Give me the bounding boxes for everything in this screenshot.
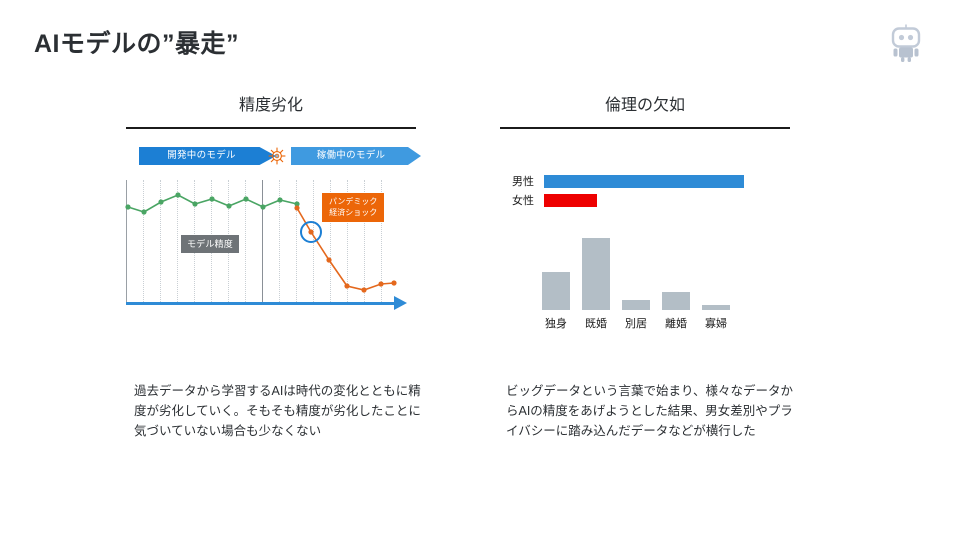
section-accuracy-degradation: 精度劣化 (126, 96, 416, 129)
vbar-married (582, 238, 610, 310)
page-title: AIモデルの”暴走” (34, 24, 239, 60)
chevron-ops-model: 稼働中のモデル (291, 147, 421, 165)
vbar-group-separated: 別居 (622, 300, 650, 310)
vertical-bar-chart: 独身 既婚 別居 離婚 寡婦 (534, 222, 754, 332)
annotation-shock-line1: パンデミック (329, 196, 377, 207)
chevron-dev-model: 開発中のモデル (139, 147, 276, 165)
annotation-shock-line2: 経済ショック (329, 207, 377, 218)
bar-charts: 男性 女性 独身 既婚 別居 離婚 (490, 160, 790, 332)
section-rule-left (126, 127, 416, 129)
series-degraded-line (311, 232, 394, 290)
hbar-row-male: 男性 (490, 174, 744, 188)
highlight-circle (300, 221, 322, 243)
model-phase-banner: 開発中のモデル (126, 145, 416, 167)
vbar-group-married: 既婚 (582, 238, 610, 310)
x-axis (126, 302, 398, 305)
hbar-label-male: 男性 (490, 173, 544, 189)
annotation-shock: パンデミック 経済ショック (322, 193, 384, 222)
vbar-widowed (702, 305, 730, 310)
series-label-model-accuracy: モデル精度 (181, 235, 239, 253)
hbar-row-female: 女性 (490, 193, 597, 207)
section-rule-right (500, 127, 790, 129)
vbar-label-married: 既婚 (585, 315, 607, 331)
body-text-right: ビッグデータという言葉で始まり、様々なデータからAIの精度をあげようとした結果、… (506, 381, 794, 441)
hbar-female (544, 194, 597, 207)
gear-icon (266, 146, 288, 166)
vbar-group-single: 独身 (542, 272, 570, 310)
hbar-label-female: 女性 (490, 192, 544, 208)
body-text-left: 過去データから学習するAIは時代の変化とともに精度が劣化していく。そもそも精度が… (134, 381, 422, 441)
vbar-separated (622, 300, 650, 310)
vbar-single (542, 272, 570, 310)
vbar-group-widowed: 寡婦 (702, 305, 730, 310)
x-axis-arrow-icon (394, 296, 407, 310)
hbar-male (544, 175, 744, 188)
slide-root: AIモデルの”暴走” 精度劣化 倫理の欠如 開発中のモデル (0, 0, 960, 540)
vbar-group-divorced: 離婚 (662, 292, 690, 310)
line-chart: 開発中のモデル (126, 145, 416, 320)
vbar-label-single: 独身 (545, 315, 567, 331)
robot-icon (884, 22, 928, 64)
section-ethics-gap: 倫理の欠如 (500, 96, 790, 129)
section-title-right: 倫理の欠如 (500, 96, 790, 116)
vbar-label-divorced: 離婚 (665, 315, 687, 331)
vbar-label-widowed: 寡婦 (705, 315, 727, 331)
vbar-divorced (662, 292, 690, 310)
vbar-label-separated: 別居 (625, 315, 647, 331)
section-title-left: 精度劣化 (126, 96, 416, 116)
